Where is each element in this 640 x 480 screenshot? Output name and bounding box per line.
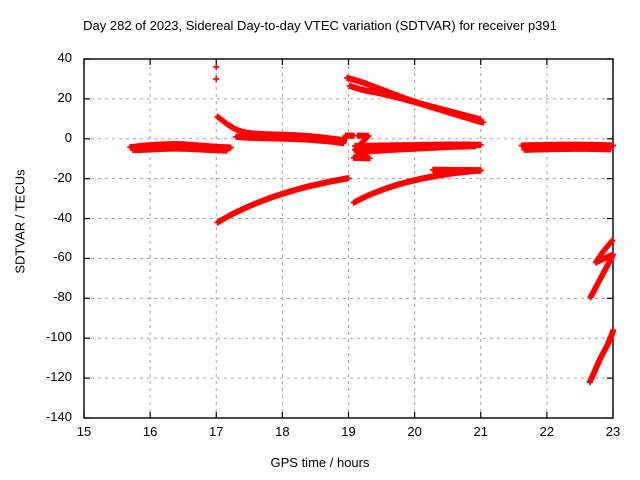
- y-axis-label: SDTVAR / TECUs: [13, 122, 28, 322]
- x-tick-label: 15: [64, 424, 104, 439]
- x-axis-label: GPS time / hours: [0, 455, 640, 470]
- y-tick-label: -20: [26, 170, 72, 185]
- axis-ticks: [84, 59, 613, 418]
- y-tick-label: 40: [26, 50, 72, 65]
- y-tick-label: -100: [26, 329, 72, 344]
- y-tick-label: -40: [26, 210, 72, 225]
- y-tick-label: -80: [26, 289, 72, 304]
- y-tick-label: -60: [26, 249, 72, 264]
- y-tick-label: 0: [26, 130, 72, 145]
- x-tick-label: 20: [395, 424, 435, 439]
- grid-lines: [84, 59, 613, 418]
- data-markers: [127, 64, 616, 385]
- x-tick-label: 16: [130, 424, 170, 439]
- chart-container: Day 282 of 2023, Sidereal Day-to-day VTE…: [0, 0, 640, 480]
- x-tick-label: 22: [527, 424, 567, 439]
- y-tick-label: -140: [26, 409, 72, 424]
- x-tick-label: 18: [262, 424, 302, 439]
- chart-plot-area: [0, 0, 640, 480]
- plot-frame: [84, 59, 613, 418]
- y-tick-label: 20: [26, 90, 72, 105]
- x-tick-label: 17: [196, 424, 236, 439]
- x-tick-label: 19: [329, 424, 369, 439]
- y-tick-label: -120: [26, 369, 72, 384]
- x-tick-label: 23: [593, 424, 633, 439]
- x-tick-label: 21: [461, 424, 501, 439]
